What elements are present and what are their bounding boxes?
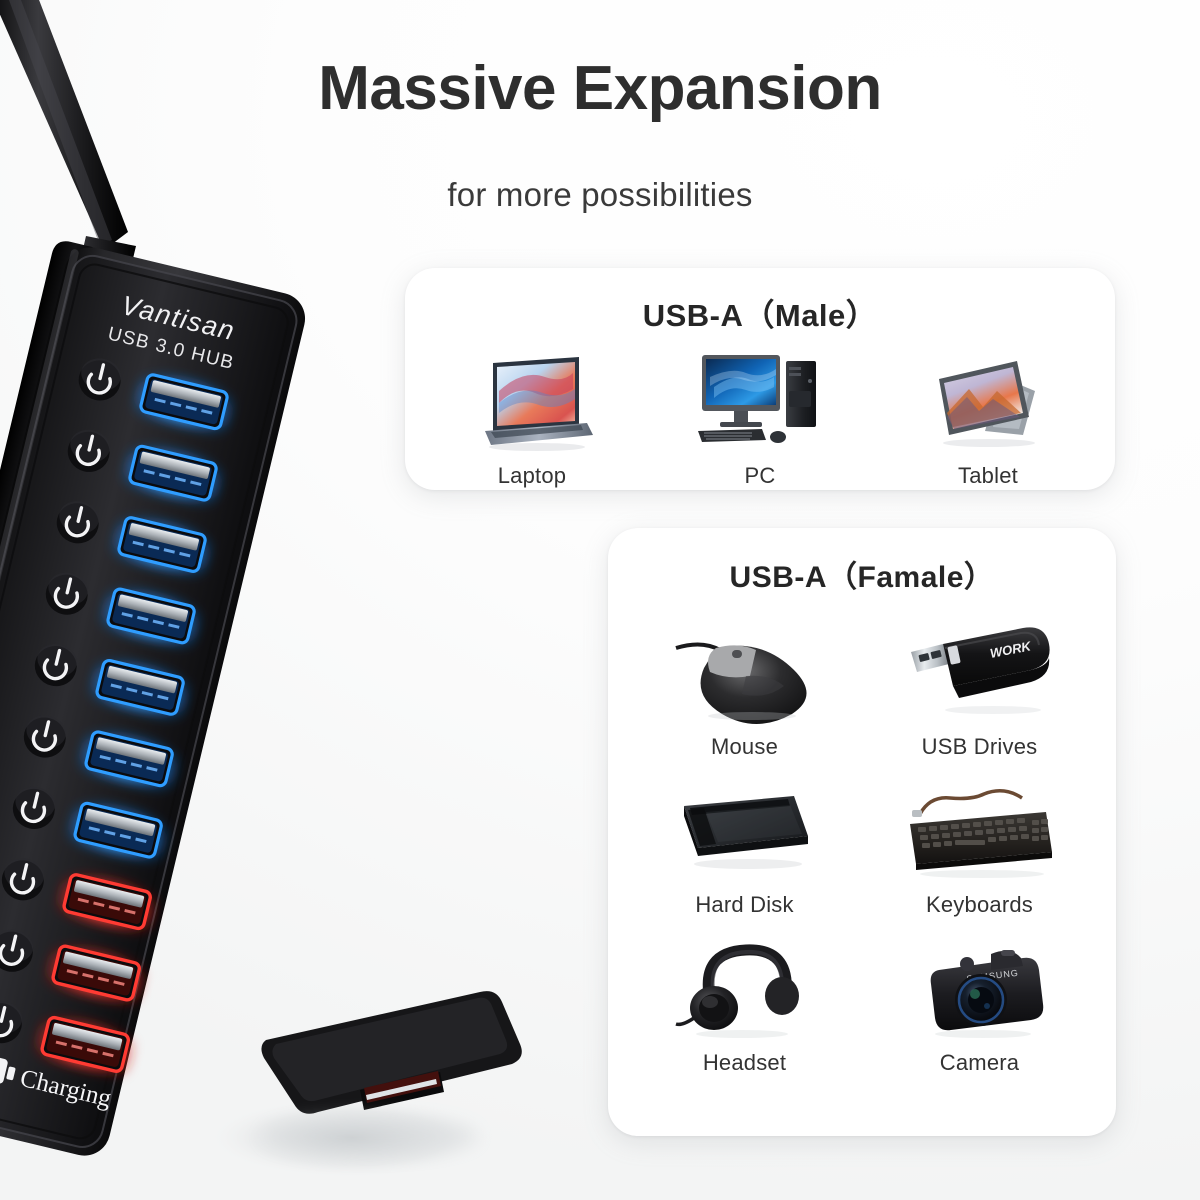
device-tile-mouse[interactable]: Mouse	[632, 610, 857, 760]
device-label: Headset	[703, 1050, 786, 1076]
camera-icon: SAMSUNG	[905, 926, 1055, 1038]
device-label: Hard Disk	[695, 892, 793, 918]
external-hard-disk-icon	[670, 768, 820, 880]
hub-bottom-face	[261, 991, 521, 1114]
device-label: Laptop	[498, 463, 567, 489]
device-tile-laptop[interactable]: Laptop	[447, 343, 617, 489]
usb-a-female-card: USB-A（Famale）	[608, 528, 1116, 1136]
laptop-icon	[467, 343, 597, 451]
hub-body: Vantisan USB 3.0 HUB	[0, 238, 314, 1162]
device-tile-hard-disk[interactable]: Hard Disk	[632, 768, 857, 918]
usb-hub-illustration: Vantisan USB 3.0 HUB	[0, 0, 620, 1200]
device-tile-tablet[interactable]: Tablet	[903, 343, 1073, 489]
usb-flash-drive-icon: WORK	[905, 610, 1055, 722]
headset-icon	[670, 926, 820, 1038]
tablet-icon	[923, 343, 1053, 451]
device-tile-keyboard[interactable]: Keyboards	[867, 768, 1092, 918]
poster-canvas: Massive Expansion for more possibilities	[0, 0, 1200, 1200]
device-label: Tablet	[958, 463, 1018, 489]
keyboard-icon	[900, 768, 1060, 880]
device-label: PC	[745, 463, 776, 489]
card-male-items: Laptop	[405, 343, 1115, 489]
device-tile-camera[interactable]: SAMSUNG Camera	[867, 926, 1092, 1076]
mouse-icon	[670, 610, 820, 722]
device-label: Keyboards	[926, 892, 1033, 918]
usb-a-male-card: USB-A（Male）	[405, 268, 1115, 490]
device-label: Camera	[940, 1050, 1019, 1076]
device-label: USB Drives	[922, 734, 1038, 760]
desktop-pc-icon	[690, 343, 830, 451]
product-image: Vantisan USB 3.0 HUB	[0, 0, 620, 1200]
device-tile-headset[interactable]: Headset	[632, 926, 857, 1076]
device-tile-usb-drive[interactable]: WORK USB Drives	[867, 610, 1092, 760]
card-female-items: Mouse	[608, 610, 1116, 1076]
card-female-title: USB-A（Famale）	[608, 528, 1116, 596]
card-male-title: USB-A（Male）	[405, 268, 1115, 335]
device-tile-pc[interactable]: PC	[675, 343, 845, 489]
device-label: Mouse	[711, 734, 778, 760]
